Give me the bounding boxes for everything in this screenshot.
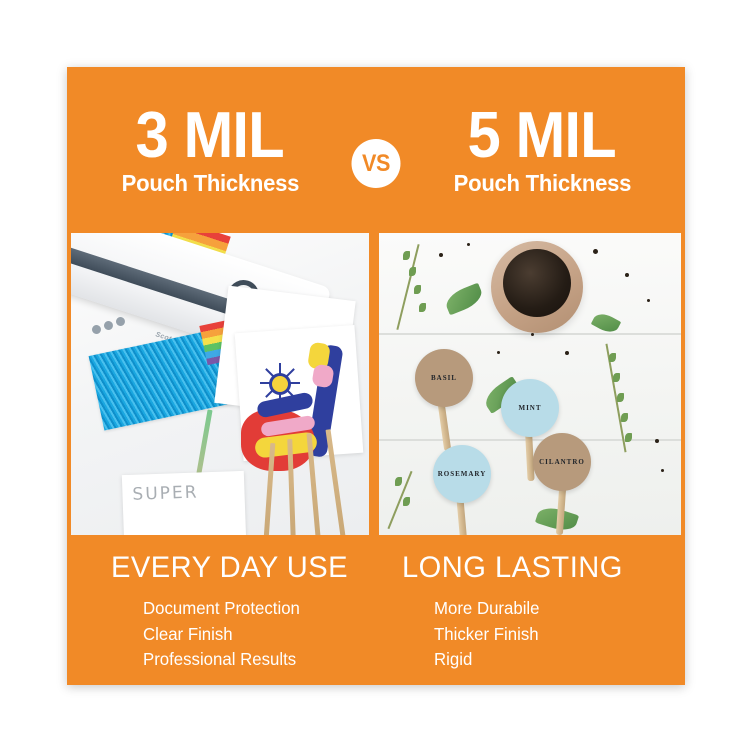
herb-sprig-leaf: [403, 251, 410, 260]
herb-marker-disc: CILANTRO: [533, 433, 591, 491]
terracotta-pot: [491, 241, 583, 333]
herb-sprig-leaf: [625, 433, 632, 442]
herb-marker-disc: BASIL: [415, 349, 473, 407]
herb-sprig-leaf: [419, 303, 426, 312]
header-column-5mil: 5 MIL Pouch Thickness: [403, 67, 681, 233]
soil-speck: [467, 243, 470, 246]
benefits-column-5mil: LONG LASTING More Durabile Thicker Finis…: [376, 535, 685, 685]
herb-marker-disc: ROSEMARY: [433, 445, 491, 503]
potting-soil: [503, 249, 571, 317]
herb-sprig-leaf: [403, 497, 410, 506]
benefits-list-3mil: Document Protection Clear Finish Profess…: [111, 596, 376, 673]
herb-sprig-leaf: [609, 353, 616, 362]
plank-line: [379, 333, 681, 335]
benefits-column-3mil: EVERY DAY USE Document Protection Clear …: [67, 535, 376, 685]
benefit-item: Document Protection: [143, 596, 367, 622]
herb-sprig-leaf: [621, 413, 628, 422]
herb-sprig-leaf: [409, 267, 416, 276]
herb-sprig-leaf: [613, 373, 620, 382]
vs-badge-label: VS: [362, 152, 390, 176]
herb-marker-disc: MINT: [501, 379, 559, 437]
herb-sprig-leaf: [414, 285, 421, 294]
benefits-row: EVERY DAY USE Document Protection Clear …: [67, 535, 685, 685]
photo-divider: [369, 233, 379, 535]
soil-speck: [625, 273, 629, 277]
soil-speck: [439, 253, 443, 257]
soil-speck: [531, 333, 534, 336]
benefits-heading-everyday-use: EVERY DAY USE: [111, 553, 368, 583]
benefit-item: Thicker Finish: [434, 622, 675, 648]
photo-long-lasting: BASIL MINT ROSEMARY CILANTRO: [379, 233, 681, 535]
comparison-infographic-card: 3 MIL Pouch Thickness VS 5 MIL Pouch Thi…: [67, 67, 685, 685]
soil-speck: [497, 351, 500, 354]
benefit-item: Clear Finish: [143, 622, 367, 648]
soil-speck: [565, 351, 569, 355]
herb-marker-label: MINT: [518, 403, 541, 414]
kid-artwork: [239, 353, 367, 513]
header-column-3mil: 3 MIL Pouch Thickness: [71, 67, 349, 233]
soil-speck: [655, 439, 659, 443]
kid-artwork-sun-icon: [272, 376, 288, 392]
herb-sprig-leaf: [395, 477, 402, 486]
soil-speck: [647, 299, 650, 302]
herb-sprig-leaf: [617, 393, 624, 402]
subhead-5mil: Pouch Thickness: [453, 172, 630, 196]
benefits-heading-long-lasting: LONG LASTING: [402, 553, 677, 583]
benefit-item: Professional Results: [143, 647, 367, 673]
herb-marker-label: ROSEMARY: [438, 469, 487, 480]
super-star-note: SUPER: [122, 471, 246, 535]
headline-3mil: 3 MIL: [136, 104, 284, 166]
herb-marker-label: BASIL: [431, 373, 457, 384]
subhead-3mil: Pouch Thickness: [121, 172, 298, 196]
benefits-list-5mil: More Durabile Thicker Finish Rigid: [402, 596, 685, 673]
super-star-note-text: SUPER: [132, 482, 199, 504]
benefit-item: Rigid: [434, 647, 675, 673]
header-banner: 3 MIL Pouch Thickness VS 5 MIL Pouch Thi…: [67, 67, 685, 233]
benefit-item: More Durabile: [434, 596, 675, 622]
photo-everyday-use: Scotch: [71, 233, 373, 535]
herb-marker-label: CILANTRO: [539, 457, 585, 468]
soil-speck: [593, 249, 598, 254]
soil-speck: [661, 469, 664, 472]
headline-5mil: 5 MIL: [468, 104, 616, 166]
photo-row: Scotch: [67, 233, 685, 535]
vs-badge: VS: [352, 139, 401, 188]
